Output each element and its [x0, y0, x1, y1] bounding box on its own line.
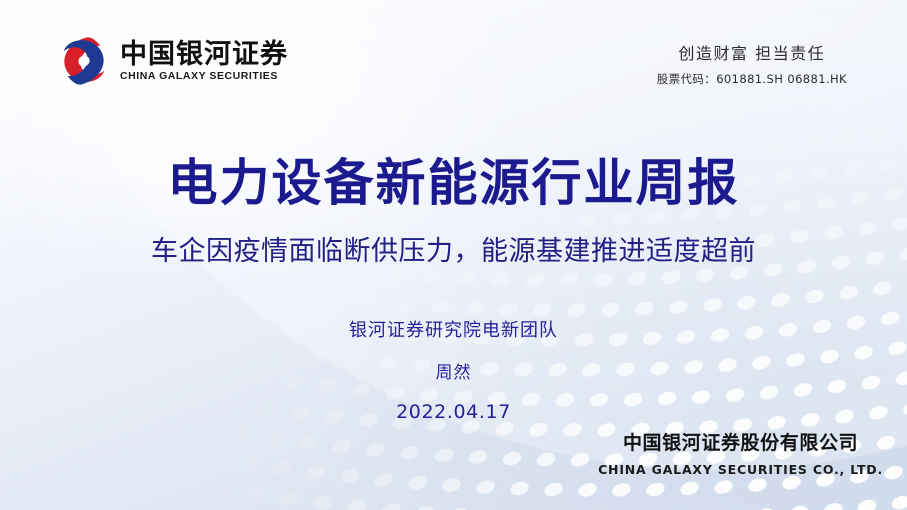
report-title: 电力设备新能源行业周报	[0, 143, 907, 215]
slide-header: 中国银河证券 CHINA GALAXY SECURITIES 创造财富 担当责任…	[0, 0, 907, 108]
brand-name-en: CHINA GALAXY SECURITIES	[120, 71, 288, 82]
author-name: 周然	[0, 358, 907, 383]
presentation-cover-slide: 中国银河证券 CHINA GALAXY SECURITIES 创造财富 担当责任…	[0, 0, 907, 510]
byline-block: 银河证券研究院电新团队 周然 2022.04.17	[0, 316, 907, 423]
footer-company-cn: 中国银河证券股份有限公司	[598, 428, 883, 455]
brand-lockup: 中国银河证券 CHINA GALAXY SECURITIES	[58, 36, 288, 86]
research-team: 银河证券研究院电新团队	[0, 316, 907, 342]
footer-company-en: CHINA GALAXY SECURITIES CO., LTD.	[598, 462, 883, 477]
publication-date: 2022.04.17	[0, 401, 907, 423]
report-subtitle: 车企因疫情面临断供压力，能源基建推进适度超前	[0, 229, 907, 268]
company-slogan: 创造财富 担当责任	[657, 40, 847, 64]
galaxy-swirl-icon	[58, 36, 110, 86]
footer-company-block: 中国银河证券股份有限公司 CHINA GALAXY SECURITIES CO.…	[598, 428, 883, 477]
slogan-block: 创造财富 担当责任 股票代码：601881.SH 06881.HK	[657, 40, 847, 87]
brand-name-cn: 中国银河证券	[120, 41, 288, 68]
brand-text-block: 中国银河证券 CHINA GALAXY SECURITIES	[120, 41, 288, 82]
stock-code-line: 股票代码：601881.SH 06881.HK	[657, 71, 847, 87]
